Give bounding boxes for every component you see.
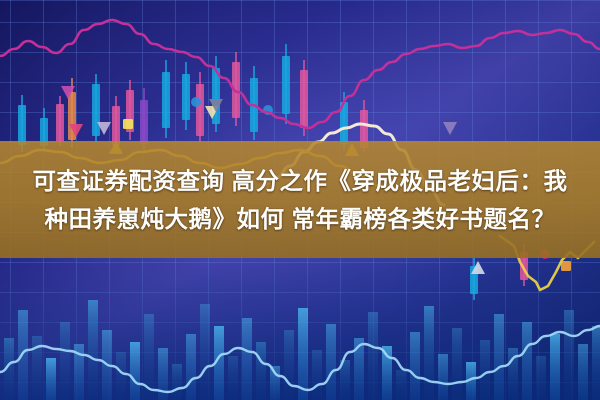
volume-bar [494,314,504,400]
candle-body [182,74,190,120]
volume-bar [242,318,252,400]
volume-bar [522,322,532,400]
candle-body [196,84,204,136]
candle-body [300,70,308,128]
candle-body [360,110,368,148]
square-marker [123,119,133,129]
volume-bar [410,332,420,400]
candle-body [282,56,290,114]
square-marker [561,261,571,271]
circle-marker [191,97,201,107]
candle-body [92,84,100,136]
candle-body [56,104,64,142]
candle-body [140,100,148,144]
candle-body [112,106,120,146]
volume-bar [186,334,196,400]
volume-bar [578,344,588,400]
volume-bar [438,354,448,400]
candle-body [18,105,26,145]
banner-image: 可查证券配资查询 高分之作《穿成极品老妇后：我 种田养崽炖大鹅》如何 常年霸榜各… [0,0,600,400]
volume-bar [326,324,336,400]
candle-body [40,118,48,146]
volume-bar [130,342,140,400]
chart-background [0,0,600,400]
circle-marker [540,249,550,259]
candle-body [162,72,170,128]
volume-bar [46,358,56,400]
volume-bar [550,334,560,400]
